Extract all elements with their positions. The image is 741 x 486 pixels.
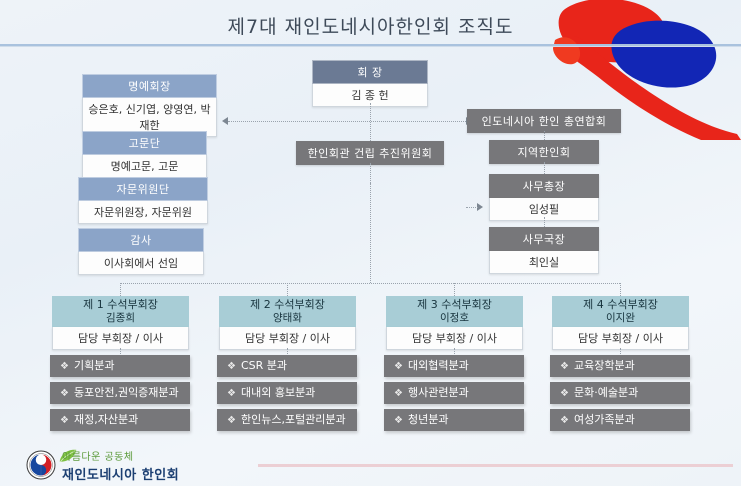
left-item-3-value: 이사회에서 선임 <box>78 252 204 275</box>
right-item-0-caption: 인도네시아 한인 총연합회 <box>467 109 621 133</box>
bullet-icon: ❖ <box>560 415 569 426</box>
committee-box[interactable]: 한인회관 건립 추진위원회 <box>296 141 444 165</box>
right-item-3-caption: 사무국장 <box>489 227 599 251</box>
bullet-icon: ❖ <box>227 361 236 372</box>
vp-1-dept-1-label: 대내외 홍보분과 <box>241 386 315 399</box>
footer-divider <box>258 464 733 467</box>
vp-2-header: 제 3 수석부회장 이정호 <box>386 296 523 327</box>
left-item-1-value: 명예고문, 고문 <box>82 155 207 178</box>
vp-0-dept-2-label: 재정,자산분과 <box>74 413 138 426</box>
vp-1-box[interactable]: 제 2 수석부회장 양태화 담당 부회장 / 이사 <box>219 296 356 350</box>
vp-3-rank: 제 4 수석부회장 <box>583 298 658 311</box>
left-item-0[interactable]: 명예회장 승은호, 신기엽, 양영연, 박재한 <box>82 74 217 137</box>
bullet-icon: ❖ <box>560 388 569 399</box>
bullet-icon: ❖ <box>60 415 69 426</box>
vp-1-dept-2-label: 한인뉴스,포털관리분과 <box>241 413 346 426</box>
vp-2-dept-0[interactable]: ❖대외협력분과 <box>384 355 524 377</box>
bullet-icon: ❖ <box>560 361 569 372</box>
vp-2-box[interactable]: 제 3 수석부회장 이정호 담당 부회장 / 이사 <box>386 296 523 350</box>
vp-2-dept-0-label: 대외협력분과 <box>408 359 469 372</box>
vp-0-dept-1[interactable]: ❖동포안전,권익증재분과 <box>50 382 190 404</box>
vp-1-dept-0[interactable]: ❖CSR 분과 <box>217 355 357 377</box>
vp-3-box[interactable]: 제 4 수석부회장 이지완 담당 부회장 / 이사 <box>552 296 689 350</box>
vp-3-name: 이지완 <box>554 312 687 325</box>
arrow-left-icon <box>222 117 228 125</box>
vp-3-dept-2-label: 여성가족분과 <box>574 413 635 426</box>
left-item-3[interactable]: 감사 이사회에서 선임 <box>78 228 204 275</box>
vp-1-header: 제 2 수석부회장 양태화 <box>219 296 356 327</box>
vp-1-dept-2[interactable]: ❖한인뉴스,포털관리분과 <box>217 409 357 431</box>
vp-0-dept-0-label: 기획분과 <box>74 359 114 372</box>
chairman-caption: 회 장 <box>312 60 428 84</box>
vp-0-role: 담당 부회장 / 이사 <box>52 327 189 350</box>
taegeuk-emblem-icon <box>26 450 56 480</box>
vp-3-dept-2[interactable]: ❖여성가족분과 <box>550 409 690 431</box>
footer-slogan: 아름다운 공동체 <box>62 448 179 463</box>
committee-label: 한인회관 건립 추진위원회 <box>296 141 444 165</box>
right-item-0[interactable]: 인도네시아 한인 총연합회 <box>467 109 621 133</box>
footer-logo: 아름다운 공동체 재인도네시아 한인회 <box>26 448 236 482</box>
connector-vp-bus <box>120 283 620 284</box>
connector-chairman-committee <box>370 103 371 141</box>
left-item-2-caption: 자문위원단 <box>78 177 208 201</box>
connector-secretary-general-stub <box>466 207 478 208</box>
vp-3-dept-0[interactable]: ❖교육장학분과 <box>550 355 690 377</box>
vp-2-dept-2[interactable]: ❖청년분과 <box>384 409 524 431</box>
left-item-1[interactable]: 고문단 명예고문, 고문 <box>82 131 207 178</box>
connector-vp-0-drop <box>120 283 121 296</box>
vp-1-name: 양태화 <box>221 312 354 325</box>
bullet-icon: ❖ <box>394 361 403 372</box>
vp-0-name: 김종희 <box>54 312 187 325</box>
right-item-3-value: 최인실 <box>489 251 599 274</box>
connector-right-2-3 <box>544 217 545 227</box>
connector-vp-2-drop <box>454 283 455 296</box>
footer-org-name: 재인도네시아 한인회 <box>62 464 179 483</box>
left-item-0-caption: 명예회장 <box>82 74 217 98</box>
bullet-icon: ❖ <box>227 415 236 426</box>
vp-1-dept-0-label: CSR 분과 <box>241 359 287 372</box>
connector-right-0-1 <box>544 131 545 140</box>
right-item-2[interactable]: 사무총장 임성필 <box>489 174 599 221</box>
connector-vp-1-drop <box>287 283 288 296</box>
vp-2-rank: 제 3 수석부회장 <box>417 298 492 311</box>
vp-3-role: 담당 부회장 / 이사 <box>552 327 689 350</box>
chairman-box[interactable]: 회 장 김 종 헌 <box>312 60 428 107</box>
vp-1-role: 담당 부회장 / 이사 <box>219 327 356 350</box>
vp-0-dept-2[interactable]: ❖재정,자산분과 <box>50 409 190 431</box>
vp-1-dept-1[interactable]: ❖대내외 홍보분과 <box>217 382 357 404</box>
slide-canvas: 제7대 재인도네시아한인회 조직도 회 장 김 종 헌 한인회관 건립 추진위원… <box>0 0 741 486</box>
vp-0-dept-1-label: 동포안전,권익증재분과 <box>74 386 179 399</box>
connector-vp-3-drop <box>620 283 621 296</box>
left-item-3-caption: 감사 <box>78 228 204 252</box>
connector-horizontal-dotted <box>228 121 466 122</box>
vp-3-dept-1-label: 문화·예술분과 <box>574 386 638 399</box>
right-item-3[interactable]: 사무국장 최인실 <box>489 227 599 274</box>
vp-1-rank: 제 2 수석부회장 <box>250 298 325 311</box>
bullet-icon: ❖ <box>394 415 403 426</box>
connector-committee-down <box>370 163 371 183</box>
vp-2-dept-2-label: 청년분과 <box>408 413 448 426</box>
vp-0-header: 제 1 수석부회장 김종희 <box>52 296 189 327</box>
left-item-2-value: 자문위원장, 자문위원 <box>78 201 208 224</box>
vp-0-dept-0[interactable]: ❖기획분과 <box>50 355 190 377</box>
vp-3-dept-1[interactable]: ❖문화·예술분과 <box>550 382 690 404</box>
vp-2-name: 이정호 <box>388 312 521 325</box>
left-item-2[interactable]: 자문위원단 자문위원장, 자문위원 <box>78 177 208 224</box>
connector-spine-vertical <box>370 183 371 283</box>
right-item-1-caption: 지역한인회 <box>489 140 599 164</box>
connector-right-1-2 <box>544 162 545 174</box>
bullet-icon: ❖ <box>394 388 403 399</box>
bullet-icon: ❖ <box>227 388 236 399</box>
page-title: 제7대 재인도네시아한인회 조직도 <box>0 12 741 39</box>
vp-0-box[interactable]: 제 1 수석부회장 김종희 담당 부회장 / 이사 <box>52 296 189 350</box>
vp-2-dept-1-label: 행사관련분과 <box>408 386 469 399</box>
bullet-icon: ❖ <box>60 361 69 372</box>
bullet-icon: ❖ <box>60 388 69 399</box>
left-item-1-caption: 고문단 <box>82 131 207 155</box>
right-item-1[interactable]: 지역한인회 <box>489 140 599 164</box>
vp-3-dept-0-label: 교육장학분과 <box>574 359 635 372</box>
vp-2-role: 담당 부회장 / 이사 <box>386 327 523 350</box>
vp-3-header: 제 4 수석부회장 이지완 <box>552 296 689 327</box>
footer-logo-text: 아름다운 공동체 재인도네시아 한인회 <box>62 448 179 483</box>
vp-2-dept-1[interactable]: ❖행사관련분과 <box>384 382 524 404</box>
right-item-2-caption: 사무총장 <box>489 174 599 198</box>
vp-0-rank: 제 1 수석부회장 <box>83 298 158 311</box>
header-divider-2 <box>0 46 741 47</box>
